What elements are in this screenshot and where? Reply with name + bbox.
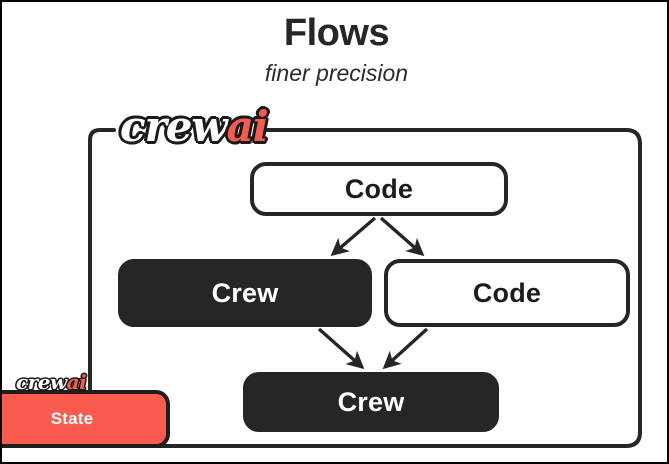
node-state[interactable]: State bbox=[0, 390, 170, 448]
node-crew-mid-label: Crew bbox=[212, 278, 279, 309]
node-code-mid[interactable]: Code bbox=[384, 259, 630, 327]
edge-code-mid-to-crew-bot bbox=[385, 329, 427, 367]
diagram-canvas: Flows finer precision Code Crew Code Cre… bbox=[0, 0, 669, 464]
node-crew-bot[interactable]: Crew bbox=[243, 372, 499, 432]
crewai-logo: crewai bbox=[120, 106, 268, 148]
crewai-logo-ai-text: ai bbox=[227, 102, 268, 151]
crewai-logo-state-crew-text: crew bbox=[16, 370, 67, 394]
node-state-label: State bbox=[51, 409, 94, 429]
edge-code-top-to-code-mid bbox=[381, 218, 422, 254]
node-code-top[interactable]: Code bbox=[250, 162, 508, 216]
crewai-logo-state-ai-text: ai bbox=[67, 370, 87, 394]
node-code-top-label: Code bbox=[345, 174, 413, 205]
crewai-logo-state: crewai bbox=[16, 372, 86, 392]
node-crew-bot-label: Crew bbox=[338, 387, 405, 418]
node-code-mid-label: Code bbox=[473, 278, 541, 309]
edge-crew-mid-to-crew-bot bbox=[319, 329, 362, 367]
page-title: Flows bbox=[2, 14, 669, 54]
page-subtitle: finer precision bbox=[2, 61, 669, 86]
crewai-logo-crew-text: crew bbox=[120, 102, 227, 151]
node-crew-mid[interactable]: Crew bbox=[118, 259, 372, 327]
edge-code-top-to-crew-mid bbox=[333, 218, 375, 254]
